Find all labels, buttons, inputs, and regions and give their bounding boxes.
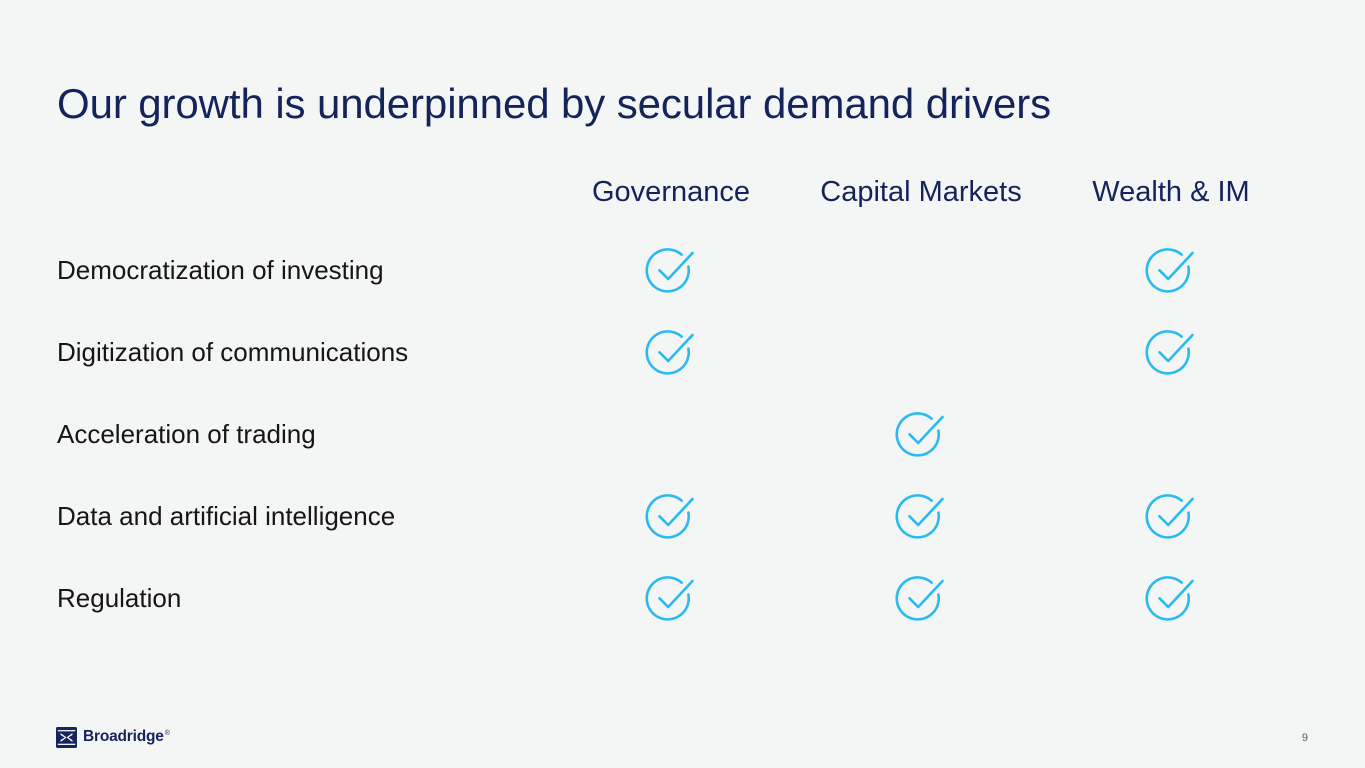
- row-label-digitization-of-communications: Digitization of communications: [57, 339, 408, 365]
- broadridge-wordmark: Broadridge®: [83, 729, 170, 745]
- logo-trademark: ®: [165, 730, 170, 737]
- check-circle-icon-data-and-artificial-intelligence-capital-markets: [893, 488, 949, 544]
- logo-word-text: Broadridge: [83, 728, 164, 745]
- row-label-democratization-of-investing: Democratization of investing: [57, 257, 384, 283]
- check-circle-icon-data-and-artificial-intelligence-wealth-and-im: [1143, 488, 1199, 544]
- column-header-governance: Governance: [592, 178, 750, 207]
- check-circle-icon-regulation-wealth-and-im: [1143, 570, 1199, 626]
- row-label-acceleration-of-trading: Acceleration of trading: [57, 421, 316, 447]
- row-label-data-and-artificial-intelligence: Data and artificial intelligence: [57, 503, 395, 529]
- check-circle-icon-democratization-of-investing-governance: [643, 242, 699, 298]
- check-circle-icon-digitization-of-communications-wealth-and-im: [1143, 324, 1199, 380]
- column-header-capital-markets: Capital Markets: [820, 178, 1021, 207]
- demand-drivers-matrix: GovernanceCapital MarketsWealth & IMDemo…: [0, 0, 1365, 768]
- check-circle-icon-data-and-artificial-intelligence-governance: [643, 488, 699, 544]
- check-circle-icon-democratization-of-investing-wealth-and-im: [1143, 242, 1199, 298]
- check-circle-icon-regulation-governance: [643, 570, 699, 626]
- broadridge-logo: Broadridge®: [56, 726, 170, 748]
- check-circle-icon-regulation-capital-markets: [893, 570, 949, 626]
- row-label-regulation: Regulation: [57, 585, 181, 611]
- broadridge-logo-mark: [56, 727, 77, 748]
- column-header-wealth-and-im: Wealth & IM: [1092, 178, 1249, 207]
- check-circle-icon-acceleration-of-trading-capital-markets: [893, 406, 949, 462]
- slide: Our growth is underpinned by secular dem…: [0, 0, 1365, 768]
- page-number: 9: [1302, 733, 1308, 744]
- check-circle-icon-digitization-of-communications-governance: [643, 324, 699, 380]
